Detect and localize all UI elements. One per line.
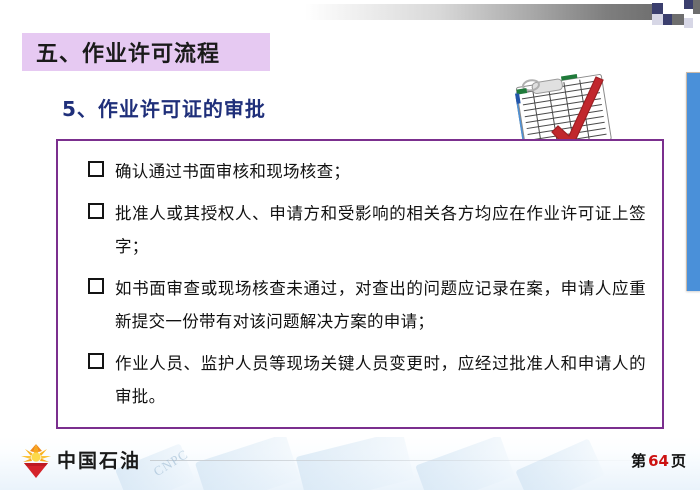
page-suffix: 页: [671, 452, 686, 470]
checker-square-white-3: [684, 9, 693, 18]
open-square-bullet-icon: [88, 278, 104, 294]
watermark-shape: [515, 438, 604, 490]
open-square-bullet-icon: [88, 203, 104, 219]
checker-square-gray-1: [672, 14, 684, 25]
footer-divider: [150, 460, 670, 461]
list-item-text: 作业人员、监护人员等现场关键人员变更时，应经过批准人和申请人的审批。: [115, 347, 646, 413]
top-gradient-bar: [305, 4, 660, 20]
right-blue-bar: [686, 72, 700, 291]
watermark-shape: [415, 437, 515, 490]
list-item: 如书面审查或现场核查未通过，对查出的问题应记录在案，申请人应重新提交一份带有对该…: [88, 272, 646, 338]
watermark-shape: [195, 437, 300, 490]
checker-square-navy-3: [684, 0, 693, 9]
list-item-text: 批准人或其授权人、申请方和受影响的相关各方均应在作业许可证上签字；: [115, 197, 646, 263]
checker-square-navy-1: [652, 3, 663, 14]
watermark-shape: [296, 437, 415, 490]
open-square-bullet-icon: [88, 161, 104, 177]
list-item: 作业人员、监护人员等现场关键人员变更时，应经过批准人和申请人的审批。: [88, 347, 646, 413]
checker-square-white-2: [672, 0, 684, 14]
slide-subtitle: 5、作业许可证的审批: [62, 93, 266, 122]
brand-name: 中国石油: [57, 446, 141, 473]
checker-square-gray-2: [693, 0, 700, 14]
section-title-band: 五、作业许可流程: [22, 33, 270, 71]
open-square-bullet-icon: [88, 353, 104, 369]
page-number-value: 64: [646, 452, 671, 470]
page-prefix: 第: [631, 452, 646, 470]
checker-square-lav-1: [652, 14, 663, 25]
list-item: 批准人或其授权人、申请方和受影响的相关各方均应在作业许可证上签字；: [88, 197, 646, 263]
section-title: 五、作业许可流程: [22, 36, 220, 68]
list-item-text: 确认通过书面审核和现场核查；: [115, 155, 350, 188]
petrochina-logo: [18, 442, 54, 480]
list-item: 确认通过书面审核和现场核查；: [88, 155, 646, 188]
checker-square-white-4: [693, 14, 700, 25]
content-box: 确认通过书面审核和现场核查； 批准人或其授权人、申请方和受影响的相关各方均应在作…: [56, 139, 664, 429]
checker-square-white-1: [663, 3, 672, 14]
checker-square-lav-2: [684, 18, 693, 28]
list-item-text: 如书面审查或现场核查未通过，对查出的问题应记录在案，申请人应重新提交一份带有对该…: [115, 272, 646, 338]
page-number: 第64页: [631, 450, 686, 471]
checker-square-navy-2: [663, 14, 672, 25]
bullet-list: 确认通过书面审核和现场核查； 批准人或其授权人、申请方和受影响的相关各方均应在作…: [58, 141, 662, 413]
